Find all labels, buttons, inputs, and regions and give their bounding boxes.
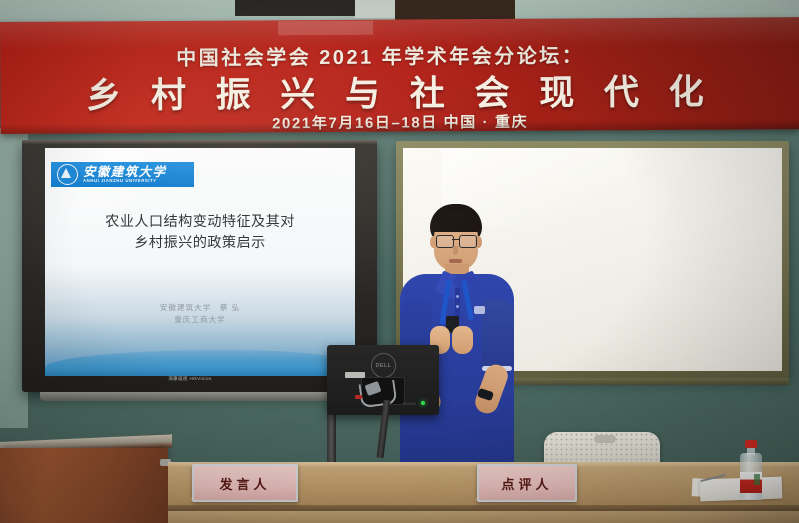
- university-name-en: ANHUI JIANZHU UNIVERSITY: [83, 178, 166, 184]
- slide-title-line1: 农业人口结构变动特征及其对: [45, 212, 355, 233]
- polo-chest-emblem: [474, 306, 485, 314]
- university-logo-bar: 安徽建筑大学 ANHUI JIANZHU UNIVERSITY: [51, 162, 194, 187]
- ceiling-fixture-left: [235, 0, 355, 16]
- conference-banner: 中国社会学会 2021 年学术年会分论坛： 乡 村 振 兴 与 社 会 现 代 …: [0, 17, 799, 134]
- presenter-hair-front: [431, 212, 481, 232]
- slide-author-line2: 重庆工商大学: [45, 314, 355, 326]
- presenter-sleeve-right: [482, 300, 514, 374]
- glasses-lens-right: [459, 235, 477, 248]
- monitor-power-led: [421, 401, 425, 405]
- desk-skirt: [168, 511, 799, 523]
- display-screen: 安徽建筑大学 ANHUI JIANZHU UNIVERSITY 农业人口结构变动…: [45, 148, 355, 376]
- podium: [0, 448, 168, 523]
- glasses-bridge: [452, 239, 459, 240]
- nameplate-reviewer-label: 点评人: [501, 474, 552, 493]
- slide-wave-graphic: [45, 350, 355, 376]
- display-stand: [40, 392, 360, 401]
- slide-author-block: 安徽建筑大学 蔡 弘 重庆工商大学: [45, 302, 355, 326]
- bottle-label-accent: [754, 474, 760, 485]
- nameplate-speaker: 发言人: [192, 464, 298, 502]
- glasses-lens-left: [436, 235, 454, 248]
- water-bottle: [740, 440, 762, 500]
- chair-handle-cutout: [594, 435, 616, 443]
- display-bezel-highlight: [22, 140, 377, 144]
- dell-logo-icon: DELL: [371, 353, 396, 378]
- ceiling-gap: [355, 0, 395, 18]
- bottle-cap: [745, 440, 757, 448]
- nameplate-speaker-label: 发言人: [219, 474, 270, 493]
- presenter-mouth: [449, 259, 462, 263]
- banner-tape: [278, 21, 373, 36]
- monitor-red-cable-tag: [355, 395, 362, 399]
- slide-title: 农业人口结构变动特征及其对 乡村振兴的政策启示: [45, 212, 355, 254]
- slide-author-line1: 安徽建筑大学 蔡 弘: [45, 302, 355, 314]
- nameplate-reviewer: 点评人: [477, 464, 577, 502]
- monitor-sticker: [345, 372, 365, 378]
- university-seal-icon: [57, 164, 78, 185]
- conference-photo-scene: 中国社会学会 2021 年学术年会分论坛： 乡 村 振 兴 与 社 会 现 代 …: [0, 0, 799, 523]
- presentation-display: 安徽建筑大学 ANHUI JIANZHU UNIVERSITY 农业人口结构变动…: [22, 140, 377, 392]
- presenter-nose: [453, 246, 458, 255]
- slide-title-line2: 乡村振兴的政策启示: [45, 233, 355, 254]
- university-name-cn: 安徽建筑大学: [83, 166, 166, 178]
- ceiling-fixture-right: [395, 0, 515, 20]
- display-brand-label: 海康威视 HikVision: [160, 375, 220, 382]
- presenter-hand-right: [452, 326, 473, 354]
